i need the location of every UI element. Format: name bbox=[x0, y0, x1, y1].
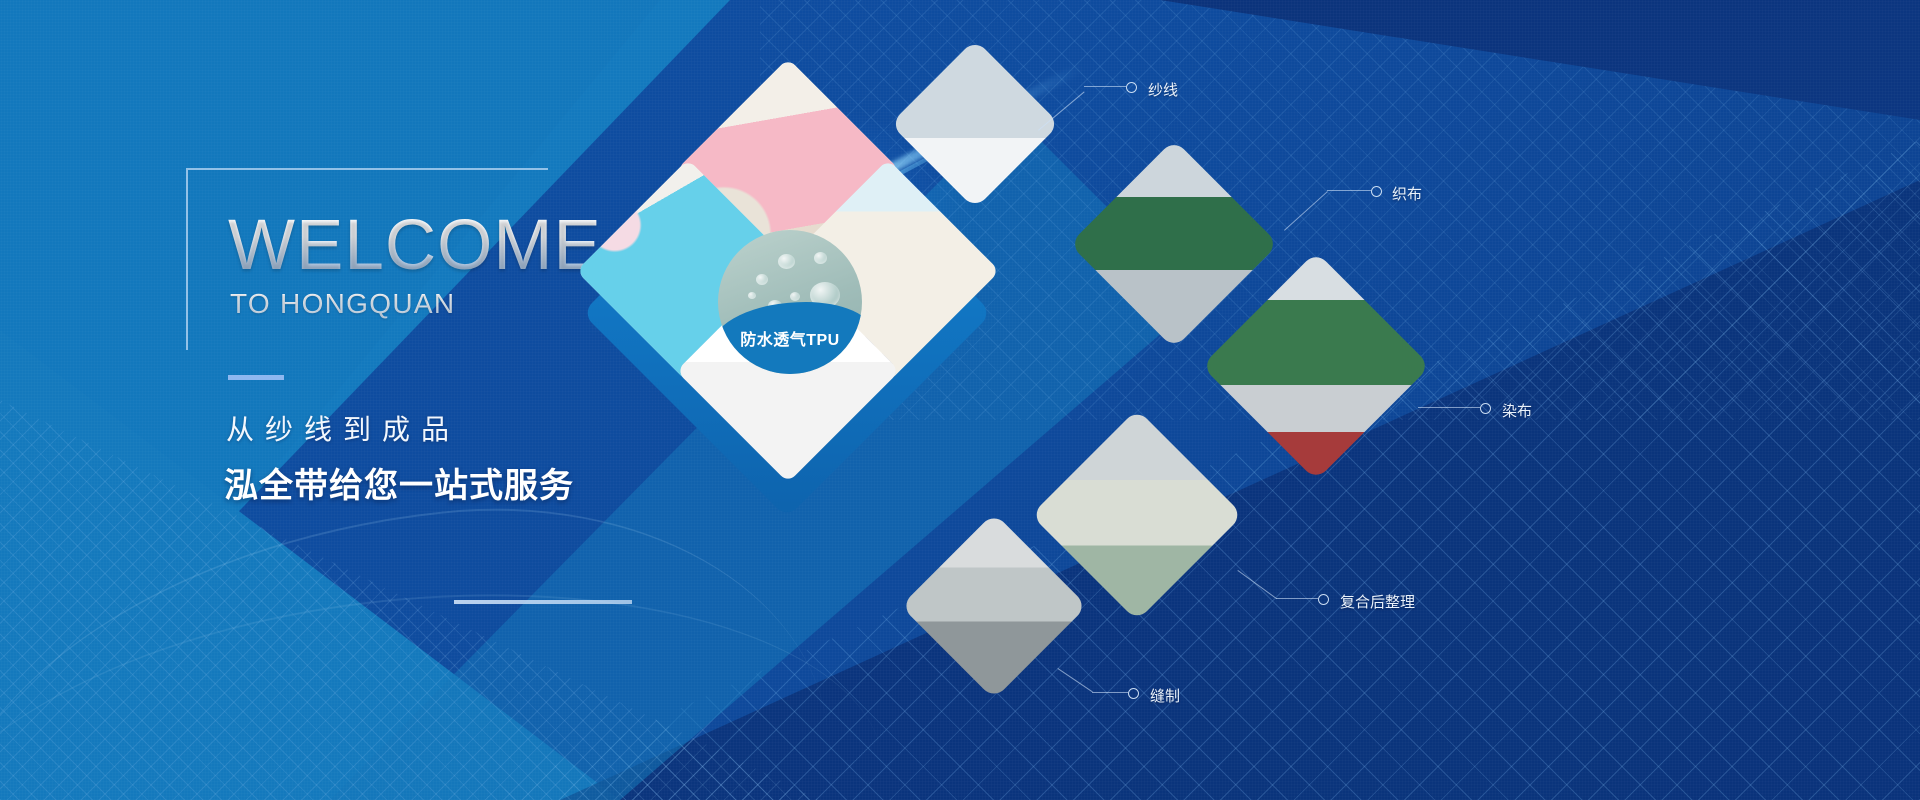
slogan: 泓全带给您一站式服务 bbox=[224, 458, 574, 507]
dyeing-label: 染布 bbox=[1502, 400, 1532, 421]
laminate-leader-line bbox=[1276, 598, 1318, 599]
page-subtitle: TO HONGQUAN bbox=[230, 288, 455, 320]
dyeing-node-dot bbox=[1480, 403, 1491, 414]
water-droplet-icon bbox=[814, 252, 827, 264]
weaving-leader-line bbox=[1327, 190, 1371, 191]
sewing-node-dot bbox=[1128, 688, 1139, 699]
yarn-label: 纱线 bbox=[1148, 79, 1178, 100]
weaving-node-dot bbox=[1371, 186, 1382, 197]
dyeing-leader-line bbox=[1418, 407, 1480, 408]
page-title: WELCOME bbox=[228, 210, 602, 281]
badge-label: 防水透气TPU bbox=[718, 326, 862, 350]
laminate-node-dot bbox=[1318, 594, 1329, 605]
laminate-label: 复合后整理 bbox=[1340, 591, 1415, 612]
water-droplet-icon bbox=[756, 274, 768, 285]
hero-banner: WELCOME TO HONGQUAN 从纱线到成品 泓全带给您一站式服务 bbox=[0, 0, 1920, 800]
tpu-feature-badge[interactable]: 防水透气TPU bbox=[718, 230, 862, 374]
water-droplet-icon bbox=[790, 292, 800, 301]
yarn-leader-line bbox=[1084, 86, 1126, 87]
sewing-label: 缝制 bbox=[1150, 685, 1180, 706]
water-droplet-icon bbox=[748, 292, 756, 299]
yarn-node-dot bbox=[1126, 82, 1137, 93]
horizontal-divider bbox=[454, 600, 632, 604]
sewing-leader-line bbox=[1092, 692, 1128, 693]
accent-bar bbox=[228, 375, 284, 380]
weaving-label: 织布 bbox=[1392, 183, 1422, 204]
tagline: 从纱线到成品 bbox=[226, 408, 460, 448]
water-droplet-icon bbox=[778, 254, 795, 269]
